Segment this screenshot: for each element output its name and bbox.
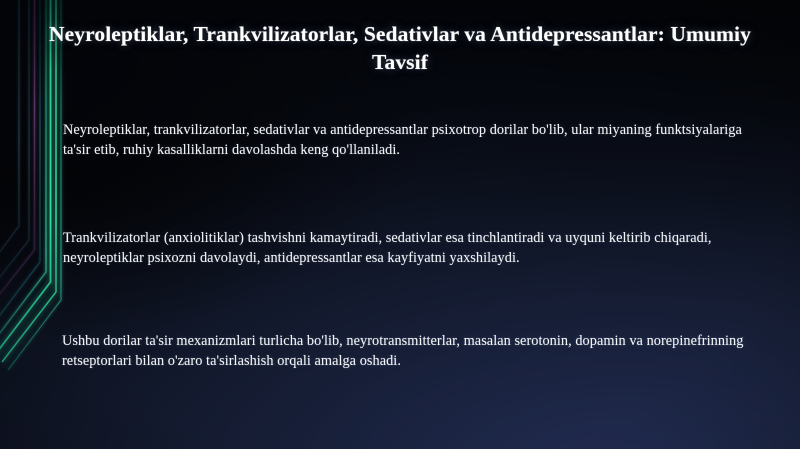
slide-canvas: Neyroleptiklar, Trankvilizatorlar, Sedat… xyxy=(0,0,800,449)
body-paragraph-2: Trankvilizatorlar (anxiolitiklar) tashvi… xyxy=(63,228,749,269)
body-paragraph-3: Ushbu dorilar ta'sir mexanizmlari turlic… xyxy=(62,331,752,372)
body-paragraph-1: Neyroleptiklar, trankvilizatorlar, sedat… xyxy=(63,120,749,161)
slide-content: Neyroleptiklar, Trankvilizatorlar, Sedat… xyxy=(0,0,800,449)
page-title: Neyroleptiklar, Trankvilizatorlar, Sedat… xyxy=(40,21,760,76)
